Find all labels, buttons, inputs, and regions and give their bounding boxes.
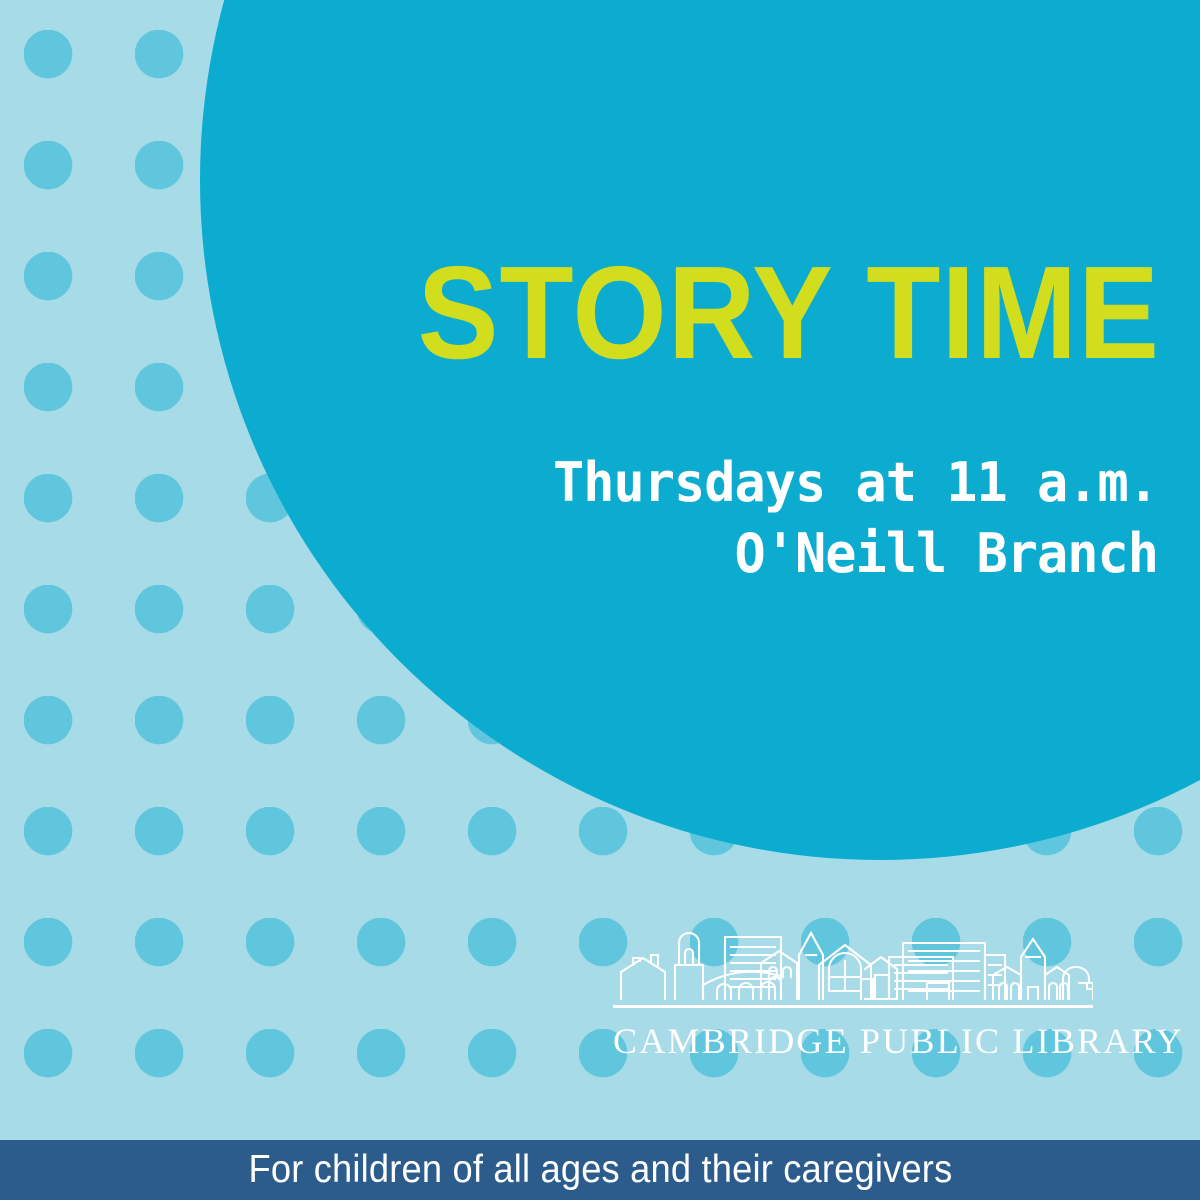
city-skyline-icon [613, 925, 1093, 1003]
logo-divider-rule [613, 1005, 1093, 1008]
audience-banner-text: For children of all ages and their careg… [248, 1148, 952, 1192]
library-logo: CAMBRIDGE PUBLIC LIBRARY [613, 925, 1093, 1062]
page-title: STORY TIME [93, 247, 1160, 379]
event-details: Thursdays at 11 a.m. O'Neill Branch [46, 447, 1158, 590]
event-schedule-line: Thursdays at 11 a.m. [46, 447, 1158, 518]
audience-banner: For children of all ages and their careg… [0, 1140, 1200, 1200]
event-location-line: O'Neill Branch [46, 518, 1158, 589]
logo-wordmark: CAMBRIDGE PUBLIC LIBRARY [613, 1020, 1093, 1062]
poster-canvas: STORY TIME Thursdays at 11 a.m. O'Neill … [0, 0, 1200, 1200]
